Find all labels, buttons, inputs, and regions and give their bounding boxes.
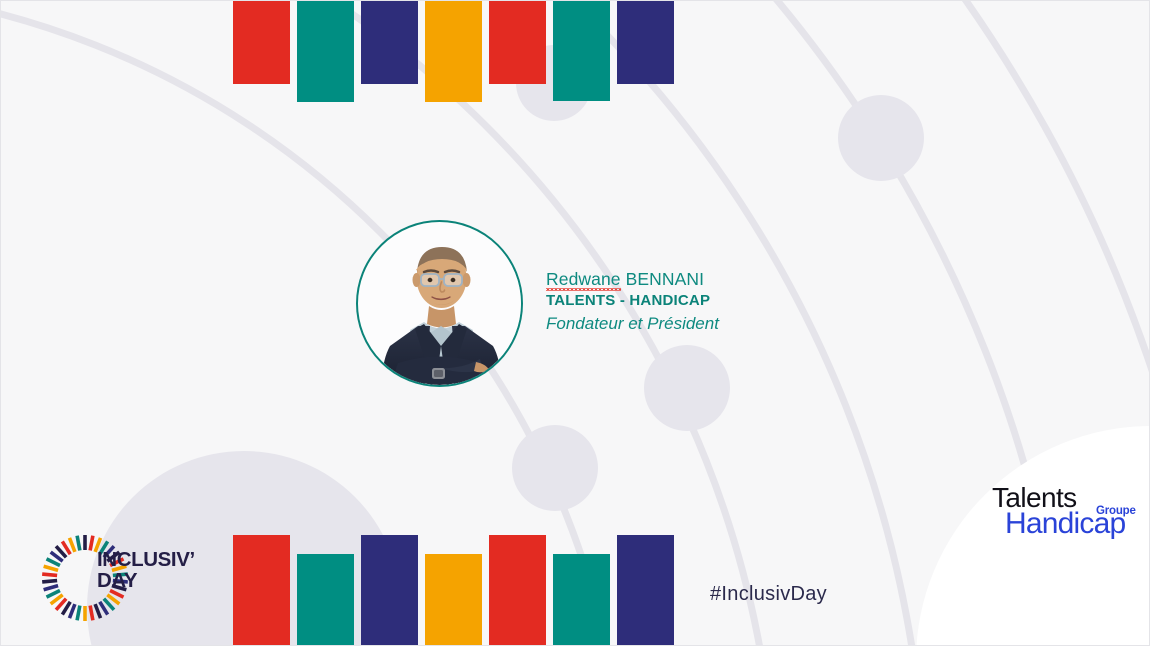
inclusivday-line1: INCLUSIV’ (97, 548, 195, 571)
inclusivday-wordmark: INCLUSIV’ DAY (97, 549, 195, 591)
bar-top-6 (553, 1, 610, 101)
bar-top-4 (425, 1, 482, 102)
decor-node-3 (512, 425, 598, 511)
inclusivday-line2: DAY (97, 570, 195, 591)
bar-bottom-2 (297, 554, 354, 645)
bar-bottom-3 (361, 535, 418, 645)
decor-node-2 (644, 345, 730, 431)
speaker-info: Redwane BENNANI TALENTS - HANDICAP Fonda… (546, 269, 946, 336)
speaker-family-name: BENNANI (626, 269, 705, 289)
speaker-role: Fondateur et Président (546, 312, 946, 336)
portrait-photo (358, 222, 521, 385)
bar-top-2 (297, 1, 354, 102)
bar-bottom-1 (233, 535, 290, 645)
slide-canvas: Redwane BENNANI TALENTS - HANDICAP Fonda… (0, 0, 1150, 646)
talents-handicap-logo: Talents Groupe Handicap (992, 482, 1144, 544)
bar-top-7 (617, 1, 674, 84)
bar-top-5 (489, 1, 546, 84)
speaker-given-name: Redwane (546, 269, 621, 291)
decor-node-1 (838, 95, 924, 181)
speaker-company: TALENTS - HANDICAP (546, 290, 946, 312)
speaker-portrait (356, 220, 523, 387)
handicap-wordmark: Handicap (1005, 507, 1125, 541)
bar-top-3 (361, 1, 418, 84)
bar-bottom-4 (425, 554, 482, 645)
bar-bottom-7 (617, 535, 674, 645)
bar-bottom-6 (553, 554, 610, 645)
bar-chart-top (233, 1, 674, 111)
event-hashtag: #InclusivDay (710, 583, 827, 606)
portrait-ring (356, 220, 523, 387)
speaker-name: Redwane BENNANI (546, 269, 946, 290)
bar-top-1 (233, 1, 290, 84)
bar-bottom-5 (489, 535, 546, 645)
inclusivday-logo: INCLUSIV’ DAY (39, 532, 187, 624)
bar-chart-bottom (233, 525, 674, 645)
